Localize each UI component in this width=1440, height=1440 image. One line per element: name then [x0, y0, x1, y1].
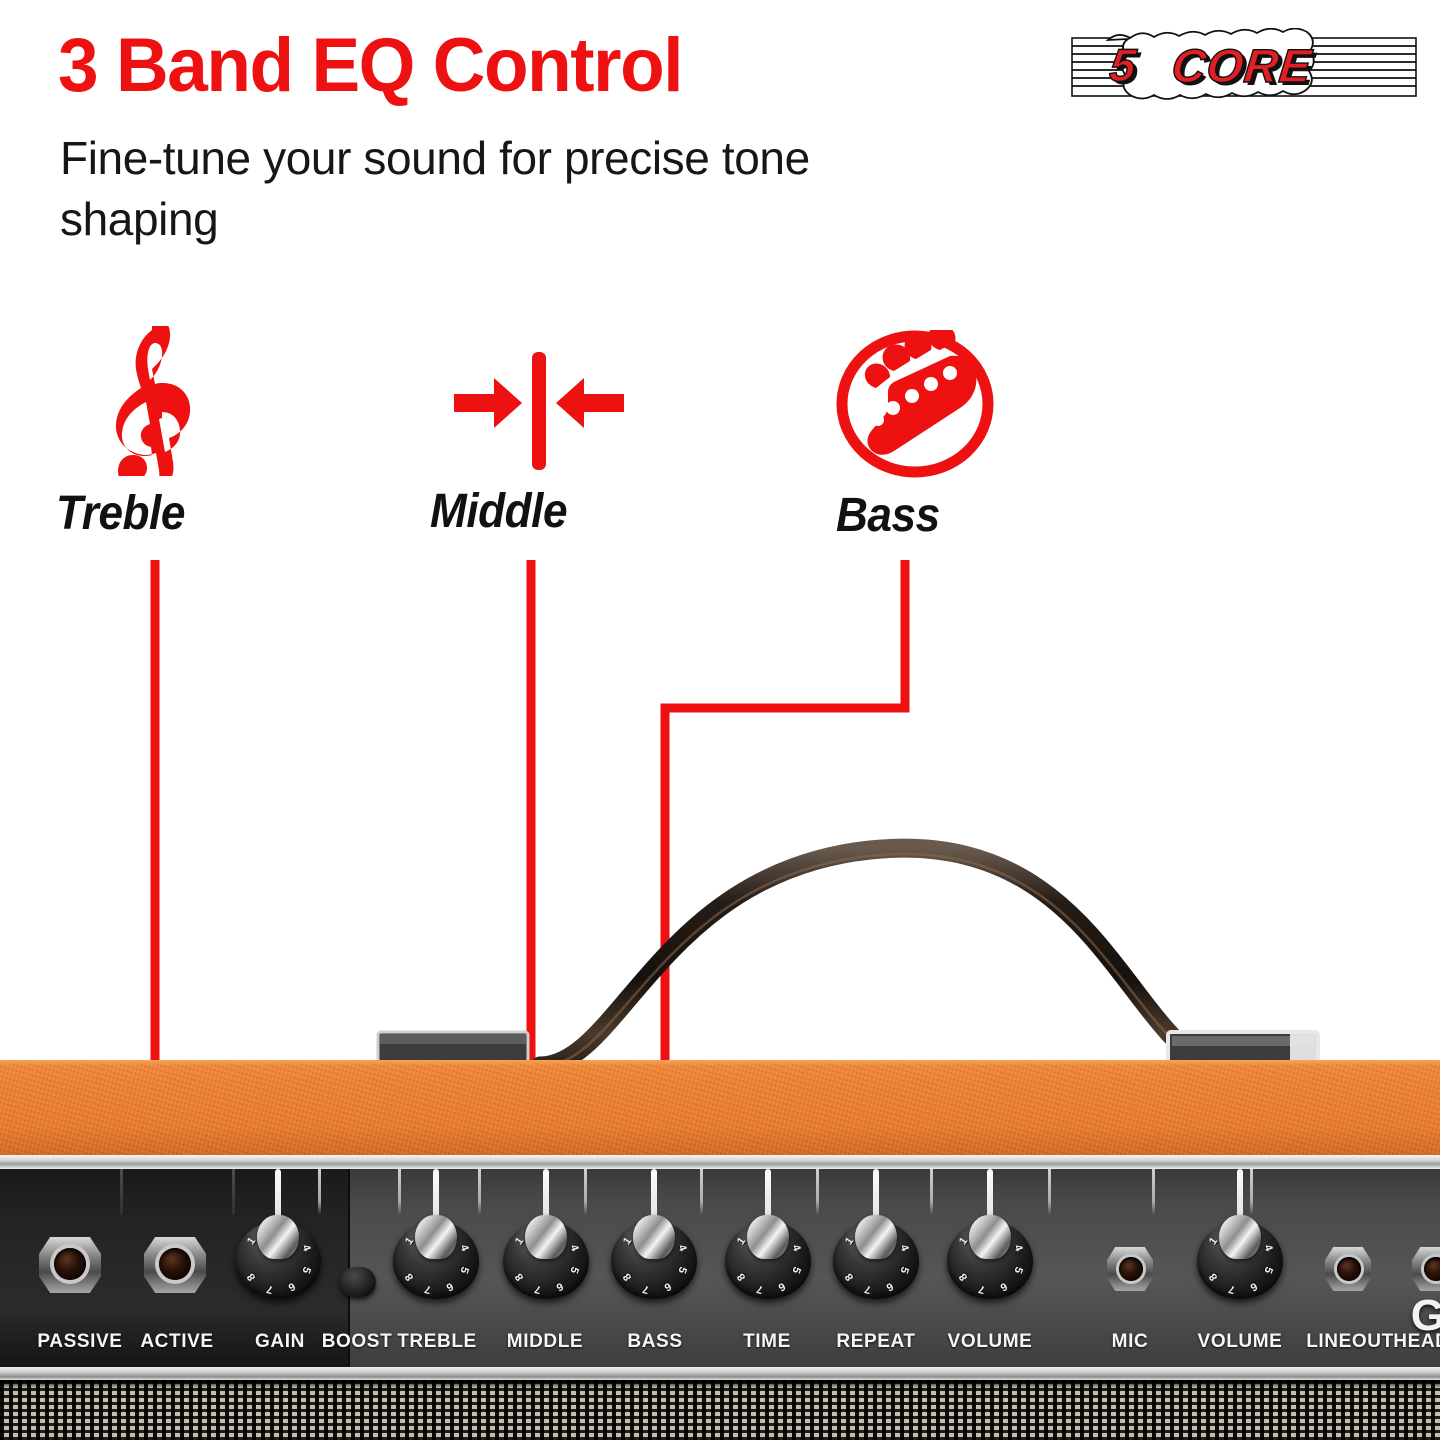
knob-scale-number: 4 — [675, 1243, 688, 1253]
amp-control-panel: 12345678 12345678 12345678 — [0, 1169, 1440, 1367]
logo-word: CORE — [1169, 39, 1315, 92]
knob-repeat[interactable]: 12345678 — [833, 1213, 919, 1299]
jack-headphone[interactable] — [1412, 1241, 1440, 1295]
legend-headphone: HEADP — [1393, 1331, 1440, 1353]
amp-speaker-grille — [0, 1380, 1440, 1440]
knob-time[interactable]: 12345678 — [725, 1213, 811, 1299]
knob-volume-echo[interactable]: 12345678 — [947, 1213, 1033, 1299]
knob-scale-number: 7 — [863, 1283, 872, 1296]
knob-scale-number: 7 — [533, 1283, 542, 1296]
knob-cap — [855, 1215, 897, 1259]
knob-scale-number: 4 — [299, 1243, 312, 1253]
legend-time: TIME — [743, 1331, 791, 1353]
knob-scale-number: 8 — [403, 1271, 416, 1283]
knob-cap — [1219, 1215, 1261, 1259]
knob-volume-mic[interactable]: 12345678 — [1197, 1213, 1283, 1299]
knob-scale-number: 4 — [897, 1243, 910, 1253]
knob-scale-number: 4 — [457, 1243, 470, 1253]
legend-mic: MIC — [1112, 1331, 1149, 1353]
knob-scale-number: 5 — [567, 1265, 580, 1275]
bass-headstock-icon — [832, 330, 998, 478]
amplifier-photo: 12345678 12345678 12345678 — [0, 1060, 1440, 1440]
knob-scale-number: 5 — [675, 1265, 688, 1275]
knob-scale-number: 7 — [977, 1283, 986, 1296]
legend-middle: MIDDLE — [507, 1331, 583, 1353]
knob-cap — [257, 1215, 299, 1259]
jack-hole — [1337, 1257, 1361, 1281]
knob-scale-number: 7 — [1227, 1283, 1236, 1296]
brand-logo: 5 5 CORE CORE — [1070, 28, 1418, 106]
amp-lower-chrome-trim — [0, 1367, 1440, 1380]
knob-scale-number: 6 — [662, 1280, 673, 1293]
knob-scale-number: 6 — [998, 1280, 1009, 1293]
knob-scale-number: 5 — [897, 1265, 910, 1275]
switch-boost[interactable] — [340, 1267, 376, 1297]
legend-treble: TREBLE — [397, 1331, 477, 1353]
knob-scale-number: 4 — [1011, 1243, 1024, 1253]
legend-volume-mic: VOLUME — [1198, 1331, 1283, 1353]
feature-label-bass: Bass — [836, 488, 940, 543]
knob-gain[interactable]: 12345678 — [235, 1213, 321, 1299]
converging-arrows-icon — [452, 352, 628, 470]
panel-divider-ticks — [0, 1169, 1440, 1219]
knob-scale-number: 4 — [789, 1243, 802, 1253]
jack-hole — [159, 1248, 191, 1280]
knob-cap — [969, 1215, 1011, 1259]
legend-gain: GAIN — [255, 1331, 305, 1353]
knob-scale-number: 8 — [621, 1271, 634, 1283]
knob-scale-number: 5 — [299, 1265, 312, 1275]
legend-repeat: REPEAT — [836, 1331, 915, 1353]
knob-scale-number: 8 — [245, 1271, 258, 1283]
amp-cabinet-tolex — [0, 1060, 1440, 1155]
jack-active[interactable] — [144, 1227, 206, 1297]
feature-label-treble: Treble — [56, 486, 185, 541]
jack-hole — [1119, 1257, 1143, 1281]
knob-middle[interactable]: 12345678 — [503, 1213, 589, 1299]
knob-scale-number: 4 — [567, 1243, 580, 1253]
knob-scale-number: 6 — [1248, 1280, 1259, 1293]
knob-cap — [525, 1215, 567, 1259]
handle-strap — [540, 848, 1200, 1066]
knob-scale-number: 5 — [1261, 1265, 1274, 1275]
knob-scale-number: 4 — [1261, 1243, 1274, 1253]
knob-scale-number: 6 — [554, 1280, 565, 1293]
amp-carry-handle — [0, 820, 1440, 1070]
knob-scale-number: 8 — [843, 1271, 856, 1283]
knob-cap — [747, 1215, 789, 1259]
jack-lineout[interactable] — [1325, 1241, 1371, 1295]
knob-scale-number: 7 — [423, 1283, 432, 1296]
feature-label-middle: Middle — [430, 484, 567, 539]
jack-passive[interactable] — [39, 1227, 101, 1297]
knob-scale-number: 7 — [641, 1283, 650, 1296]
knob-scale-number: 5 — [789, 1265, 802, 1275]
knob-scale-number: 8 — [513, 1271, 526, 1283]
legend-lineout: LINEOUT — [1306, 1331, 1394, 1353]
knob-scale-number: 7 — [755, 1283, 764, 1296]
handle-bracket-left — [378, 1032, 528, 1062]
knob-scale-number: 8 — [957, 1271, 970, 1283]
jack-hole — [54, 1248, 86, 1280]
legend-volume-echo: VOLUME — [948, 1331, 1033, 1353]
knob-scale-number: 6 — [444, 1280, 455, 1293]
promo-graphic-root: 3 Band EQ Control Fine-tune your sound f… — [0, 0, 1440, 1440]
legend-active: ACTIVE — [140, 1331, 213, 1353]
knob-cap — [415, 1215, 457, 1259]
legend-passive: PASSIVE — [37, 1331, 122, 1353]
page-title: 3 Band EQ Control — [58, 28, 682, 104]
knob-scale-number: 5 — [1011, 1265, 1024, 1275]
page-subtitle: Fine-tune your sound for precise tone sh… — [60, 128, 960, 250]
legend-bass: BASS — [627, 1331, 682, 1353]
knob-cap — [633, 1215, 675, 1259]
treble-clef-icon — [96, 326, 206, 476]
jack-mic[interactable] — [1107, 1241, 1153, 1295]
knob-scale-number: 7 — [265, 1283, 274, 1296]
knob-scale-number: 6 — [884, 1280, 895, 1293]
knob-treble[interactable]: 12345678 — [393, 1213, 479, 1299]
knob-scale-number: 6 — [776, 1280, 787, 1293]
knob-scale-number: 5 — [457, 1265, 470, 1275]
knob-scale-number: 6 — [286, 1280, 297, 1293]
knob-scale-number: 8 — [1207, 1271, 1220, 1283]
knob-bass[interactable]: 12345678 — [611, 1213, 697, 1299]
legend-boost: BOOST — [322, 1331, 393, 1353]
amp-upper-chrome-trim — [0, 1155, 1440, 1169]
knob-scale-number: 8 — [735, 1271, 748, 1283]
